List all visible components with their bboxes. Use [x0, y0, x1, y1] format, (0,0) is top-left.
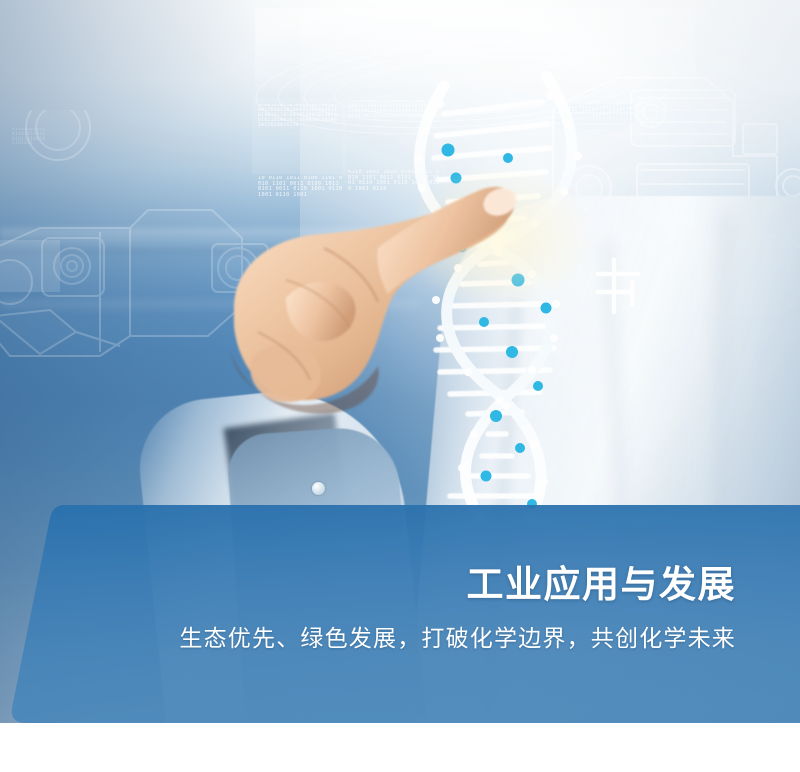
binary-data-panel: 0100101011010010101100101001101011010010…	[258, 104, 340, 168]
banner-subtitle: 生态优先、绿色发展，打破化学边界，共创化学未来	[0, 627, 736, 650]
data-plate	[0, 240, 60, 292]
binary-data-panel: 1011010010110100101101001011010010110100…	[644, 108, 740, 204]
binary-data-panel: 0110100101101001011010010110100101101001	[12, 128, 46, 224]
binary-data-panel: 101101001011010010110100101101001011010	[760, 82, 800, 162]
banner-title: 工业应用与发展	[0, 566, 736, 603]
footer-white-strip	[0, 723, 800, 772]
hand-illustration	[228, 176, 548, 506]
caption-text-block: 工业应用与发展 生态优先、绿色发展，打破化学边界，共创化学未来	[0, 498, 800, 726]
hero-banner-root: 0100101011010010101100101001101011010010…	[0, 0, 800, 772]
